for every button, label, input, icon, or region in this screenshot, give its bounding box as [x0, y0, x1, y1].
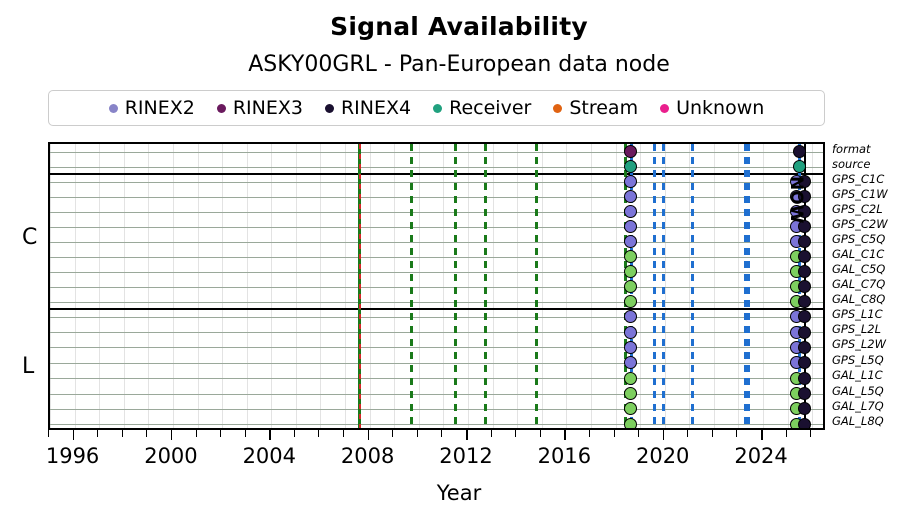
chart-root: Signal Availability ASKY00GRL - Pan-Euro…	[0, 0, 918, 531]
row-label-gal_l1c: GAL_L1C	[832, 370, 883, 382]
legend-label: RINEX2	[125, 99, 195, 118]
data-marker[interactable]	[798, 418, 811, 430]
legend-label: RINEX3	[233, 99, 303, 118]
data-marker[interactable]	[624, 372, 637, 385]
x-tick-major	[368, 430, 370, 440]
x-tick-major	[564, 430, 566, 440]
data-marker[interactable]	[624, 205, 637, 218]
x-tick-minor	[97, 430, 98, 437]
data-marker[interactable]	[624, 295, 637, 308]
row-baseline	[50, 257, 823, 258]
x-tick-minor	[122, 430, 123, 437]
x-tick-major	[663, 430, 665, 440]
row-label-gps_l5q: GPS_L5Q	[832, 355, 884, 367]
row-label-gps_l1c: GPS_L1C	[832, 309, 883, 321]
x-tick-minor	[294, 430, 295, 437]
x-tick-minor	[146, 430, 147, 437]
row-label-gps_l2l: GPS_L2L	[832, 324, 881, 336]
row-baseline	[50, 197, 823, 198]
x-tick-minor	[491, 430, 492, 437]
legend-item-unknown[interactable]: Unknown	[660, 99, 764, 118]
event-line	[535, 144, 538, 428]
data-marker[interactable]	[624, 250, 637, 263]
data-marker[interactable]	[798, 356, 811, 369]
row-baseline	[50, 152, 823, 153]
x-tick-label: 1996	[33, 444, 113, 468]
event-line	[662, 144, 665, 428]
row-baseline	[50, 212, 823, 213]
x-tick-minor	[736, 430, 737, 437]
row-baseline	[50, 182, 823, 183]
data-marker[interactable]	[798, 265, 811, 278]
x-tick-minor	[220, 430, 221, 437]
row-label-format: format	[832, 144, 871, 156]
x-tick-major	[466, 430, 468, 440]
x-tick-minor	[318, 430, 319, 437]
row-baseline	[50, 167, 823, 168]
legend-label: Stream	[569, 99, 638, 118]
y-axis-group-label: L	[22, 354, 34, 379]
legend-label: Receiver	[449, 99, 531, 118]
data-marker[interactable]	[798, 280, 811, 293]
chart-subtitle: ASKY00GRL - Pan-European data node	[0, 52, 918, 77]
row-label-gps_c2w: GPS_C2W	[832, 219, 888, 231]
legend-label: Unknown	[676, 99, 764, 118]
data-marker[interactable]	[624, 310, 637, 323]
x-tick-minor	[614, 430, 615, 437]
x-tick-minor	[712, 430, 713, 437]
legend-marker-icon	[217, 104, 226, 113]
x-tick-minor	[417, 430, 418, 437]
x-tick-minor	[245, 430, 246, 437]
x-tick-major	[269, 430, 271, 440]
plot-area	[48, 142, 825, 430]
x-tick-label: 2000	[131, 444, 211, 468]
row-label-source: source	[832, 159, 870, 171]
x-tick-minor	[638, 430, 639, 437]
legend-marker-icon	[660, 104, 669, 113]
row-label-gal_c7q: GAL_C7Q	[832, 279, 885, 291]
row-baseline	[50, 227, 823, 228]
x-axis-title: Year	[0, 481, 918, 505]
row-label-gal_l7q: GAL_L7Q	[832, 401, 884, 413]
now-label: NOW	[786, 176, 806, 223]
legend-marker-icon	[325, 104, 334, 113]
x-tick-label: 2016	[524, 444, 604, 468]
data-marker[interactable]	[798, 295, 811, 308]
legend-item-rinex3[interactable]: RINEX3	[217, 99, 303, 118]
x-tick-label: 2008	[328, 444, 408, 468]
legend-item-receiver[interactable]: Receiver	[433, 99, 531, 118]
event-line	[359, 144, 361, 428]
x-tick-label: 2012	[426, 444, 506, 468]
event-line	[653, 144, 656, 428]
legend-item-rinex2[interactable]: RINEX2	[109, 99, 195, 118]
data-marker[interactable]	[624, 235, 637, 248]
data-marker[interactable]	[798, 250, 811, 263]
x-tick-label: 2004	[229, 444, 309, 468]
row-baseline	[50, 287, 823, 288]
x-tick-label: 2020	[623, 444, 703, 468]
row-label-gal_l5q: GAL_L5Q	[832, 386, 884, 398]
x-tick-major	[171, 430, 173, 440]
row-baseline	[50, 409, 823, 410]
x-tick-minor	[515, 430, 516, 437]
data-marker[interactable]	[624, 387, 637, 400]
data-marker[interactable]	[798, 326, 811, 339]
x-tick-minor	[687, 430, 688, 437]
row-baseline	[50, 378, 823, 379]
data-marker[interactable]	[798, 341, 811, 354]
legend-marker-icon	[553, 104, 562, 113]
data-marker[interactable]	[798, 387, 811, 400]
legend-marker-icon	[109, 104, 118, 113]
data-marker[interactable]	[624, 160, 637, 173]
data-marker[interactable]	[624, 190, 637, 203]
chart-legend: RINEX2RINEX3RINEX4ReceiverStreamUnknown	[48, 90, 825, 126]
x-tick-major	[761, 430, 763, 440]
x-tick-minor	[392, 430, 393, 437]
x-tick-minor	[786, 430, 787, 437]
row-baseline	[50, 317, 823, 318]
section-divider	[50, 308, 823, 310]
data-marker[interactable]	[624, 341, 637, 354]
legend-label: RINEX4	[341, 99, 411, 118]
data-marker[interactable]	[624, 326, 637, 339]
row-label-gps_c1w: GPS_C1W	[832, 189, 888, 201]
row-label-gps_l2w: GPS_L2W	[832, 339, 886, 351]
event-line	[410, 144, 413, 428]
row-label-gps_c5q: GPS_C5Q	[832, 234, 885, 246]
page-title: Signal Availability	[0, 12, 918, 41]
row-baseline	[50, 394, 823, 395]
row-label-gps_c2l: GPS_C2L	[832, 204, 883, 216]
row-label-gps_c1c: GPS_C1C	[832, 174, 884, 186]
data-marker[interactable]	[624, 402, 637, 415]
legend-item-stream[interactable]: Stream	[553, 99, 638, 118]
event-line	[744, 144, 750, 428]
data-marker[interactable]	[798, 235, 811, 248]
section-divider	[50, 173, 823, 175]
row-label-gal_c8q: GAL_C8Q	[832, 294, 885, 306]
row-baseline	[50, 272, 823, 273]
data-marker[interactable]	[798, 372, 811, 385]
data-marker[interactable]	[624, 220, 637, 233]
event-line	[691, 144, 694, 428]
data-marker[interactable]	[624, 265, 637, 278]
row-label-gal_c1c: GAL_C1C	[832, 249, 884, 261]
row-label-gal_c5q: GAL_C5Q	[832, 264, 885, 276]
data-marker[interactable]	[798, 402, 811, 415]
row-baseline	[50, 242, 823, 243]
x-tick-minor	[196, 430, 197, 437]
row-baseline	[50, 363, 823, 364]
row-baseline	[50, 302, 823, 303]
legend-item-rinex4[interactable]: RINEX4	[325, 99, 411, 118]
event-line	[484, 144, 487, 428]
x-tick-label: 2024	[721, 444, 801, 468]
row-baseline	[50, 347, 823, 348]
x-tick-minor	[589, 430, 590, 437]
legend-marker-icon	[433, 104, 442, 113]
data-marker[interactable]	[798, 310, 811, 323]
event-line	[454, 144, 457, 428]
data-marker[interactable]	[624, 418, 637, 430]
x-tick-minor	[343, 430, 344, 437]
row-baseline	[50, 332, 823, 333]
data-marker[interactable]	[624, 145, 637, 158]
row-label-gal_l8q: GAL_L8Q	[832, 416, 884, 428]
data-marker[interactable]	[624, 356, 637, 369]
x-tick-minor	[441, 430, 442, 437]
data-marker[interactable]	[624, 175, 637, 188]
x-tick-minor	[540, 430, 541, 437]
row-baseline	[50, 424, 823, 425]
y-axis-group-label: C	[22, 225, 37, 250]
x-tick-minor	[48, 430, 49, 437]
data-marker[interactable]	[624, 280, 637, 293]
x-tick-major	[73, 430, 75, 440]
x-tick-minor	[810, 430, 811, 437]
